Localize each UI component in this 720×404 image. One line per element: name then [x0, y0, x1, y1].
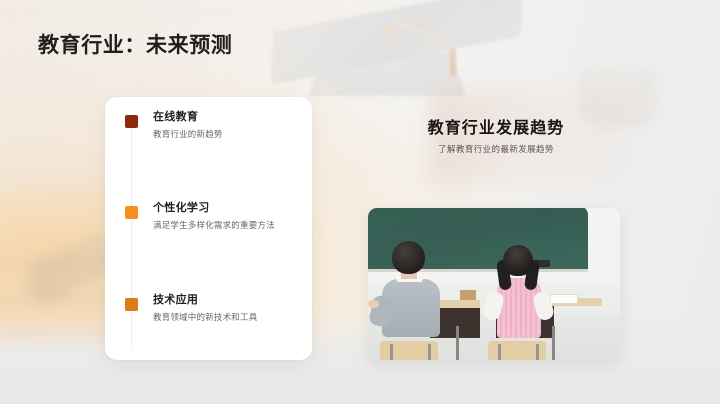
list-item-description: 教育行业的新趋势	[153, 128, 304, 141]
graduation-cap-tassel	[450, 48, 456, 76]
list-item-title: 技术应用	[153, 292, 304, 308]
section-subtitle: 了解教育行业的最新发展趋势	[368, 143, 624, 155]
timeline-connector-line	[131, 127, 132, 349]
list-item-title: 个性化学习	[153, 200, 304, 216]
classroom-photo	[368, 208, 620, 360]
presentation-slide: 教育行业：未来预测 在线教育 教育行业的新趋势 个性化学习 满足学生多样化需求的…	[0, 0, 720, 404]
timeline-card: 在线教育 教育行业的新趋势 个性化学习 满足学生多样化需求的重要方法 技术应用 …	[105, 97, 312, 360]
list-item-text: 在线教育 教育行业的新趋势	[153, 109, 304, 141]
background-warm-glow	[430, 92, 645, 184]
list-item-title: 在线教育	[153, 109, 304, 125]
timeline-marker-icon	[125, 206, 138, 219]
section-heading: 教育行业发展趋势	[368, 114, 624, 138]
list-item-description: 满足学生多样化需求的重要方法	[153, 219, 304, 232]
list-item-text: 技术应用 教育领域中的新技术和工具	[153, 292, 304, 324]
list-item-text: 个性化学习 满足学生多样化需求的重要方法	[153, 200, 304, 232]
photo-overlay	[368, 208, 620, 360]
list-item-description: 教育领域中的新技术和工具	[153, 311, 304, 324]
graduation-cap-icon	[264, 2, 564, 98]
timeline-marker-icon	[125, 298, 138, 311]
graduation-cap-button	[382, 26, 395, 35]
page-title: 教育行业：未来预测	[38, 29, 232, 59]
timeline-marker-icon	[125, 115, 138, 128]
